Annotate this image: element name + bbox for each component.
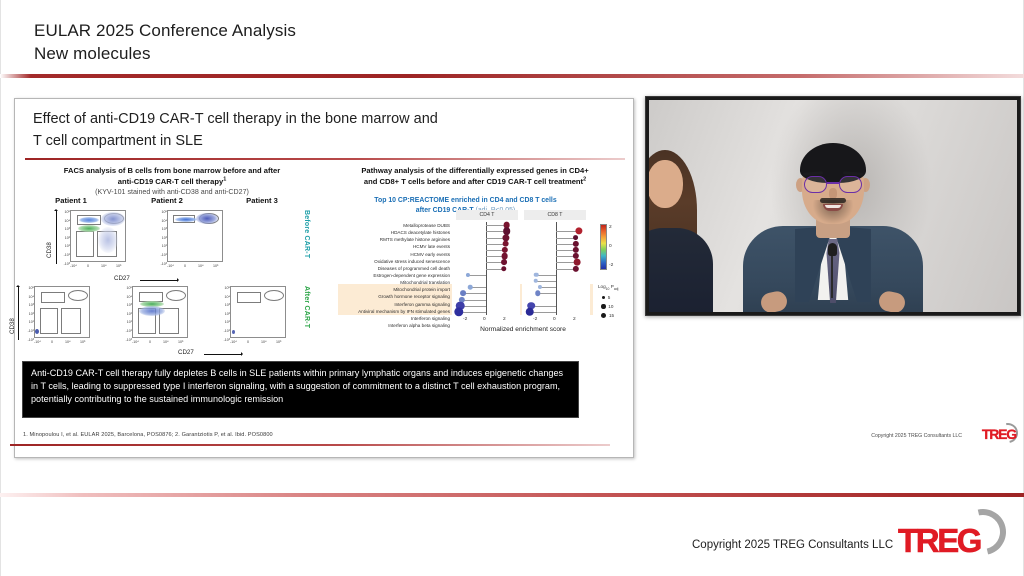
slide-treg-logo: TREG [966,423,1018,443]
dotplot-stem [462,300,486,301]
facs-plot-p1-after: 10⁵10⁴10³10²10¹-10¹-10³ -10⁴010⁴10⁵ [34,286,90,338]
dotplot-xtick-label: -2 [533,317,537,322]
size-legend-title-main: Log [598,284,606,289]
dotplot-point[interactable] [454,307,463,316]
facs-patient-label-1: Patient 1 [36,196,106,205]
slide-treg-wordmark: TREG [982,426,1016,442]
size-legend-title: Log10 Padj [598,284,618,291]
dotplot-point[interactable] [525,308,534,317]
facs-gate-naive-p2b [76,231,94,257]
facs-yticks-p2-after: 10⁵10⁴10³10²10¹-10¹-10³ [121,286,132,338]
dotplot-point[interactable] [533,279,538,284]
facs-yticks-p2-before: 10⁵10⁴10³10²10¹-10¹-10³ [59,210,70,262]
size-legend-title-tail-sub: adj [614,287,619,291]
dotplot-colorbar-tick-bot: -2 [609,263,613,268]
dotplot-xtick-label: -2 [463,317,467,322]
size-legend-label-15: 15 [609,313,614,318]
facs-xticks-p3-before: -10⁴010⁴10⁵ [168,264,224,272]
facs-xticks-p2-after: -10⁴010⁴10⁵ [133,340,189,348]
facs-y-arrow-row1 [56,210,57,264]
dotplot-category-label: Interferon signaling [338,315,450,322]
deck-header-line2: New molecules [34,43,296,66]
dotplot-category-label: Oxidative stress induced senescence [338,258,450,265]
facs-heading-line2-text: anti-CD19 CAR-T cell therapy [118,177,224,186]
footer-treg-logo: TREG [898,509,1010,559]
size-legend-dot-10 [601,304,605,308]
slide-footnote: 1. Minopoulou I, et al. EULAR 2025, Barc… [23,432,273,438]
facs-cells-p1a [35,329,39,334]
size-legend-label-5: 5 [608,295,611,300]
slide-bottom-accent-rule [10,444,610,446]
facs-plot-p3-after: 10⁵10⁴10³10²10¹-10¹-10³ -10⁴010⁴10⁵ [230,286,286,338]
dotplot-point[interactable] [534,272,539,277]
facs-gate-naive-p1a [40,308,58,334]
second-person-body [649,228,713,312]
facs-figure: Patient 1 Patient 2 Patient 3 Before CAR… [22,196,322,356]
dotplot-category-label: Interferon gamma signaling [338,301,450,308]
facs-xticks-p3-after: -10⁴010⁴10⁵ [231,340,287,348]
facs-gate-plasma-p3a [264,290,284,301]
dotplot-xtick-label: 2 [573,317,576,322]
facs-patient-label-2: Patient 2 [132,196,202,205]
dotplot-point[interactable] [468,285,473,290]
dotplot-category-label: Growth hormone receptor signaling [338,293,450,300]
pathway-heading-line2-text: and CD8+ T cells before and after CD19 C… [364,177,583,186]
speaker-moustache [820,198,846,203]
dotplot-colorbar-tick-mid: 0 [609,244,612,249]
facs-y-arrow-row2 [18,286,19,340]
dotplot-point[interactable] [501,266,506,271]
facs-gate-transitional-p3a [237,292,261,303]
footer-treg-wordmark: TREG [898,524,980,557]
dotplot-category-label: Mitochondrial protein import [338,286,450,293]
facs-heading-line2: anti-CD19 CAR-T cell therapy1 [31,176,313,187]
facs-cells-p2b-c [101,212,125,226]
facs-gate-plasma-p2a [166,290,186,301]
microphone-stem [831,250,833,298]
slide-title: Effect of anti-CD19 CAR-T cell therapy i… [33,109,621,153]
microphone-head-icon [828,243,837,256]
dotplot-category-label: Mitochondrial translation [338,279,450,286]
pathway-panel-heading: Pathway analysis of the differentially e… [325,165,625,187]
dotplot-point[interactable] [538,285,542,289]
dotplot-point[interactable] [501,259,507,265]
dotplot-panel-cd4 [452,222,520,315]
slide-title-line1: Effect of anti-CD19 CAR-T cell therapy i… [33,109,621,131]
facs-x-arrow-row1 [140,280,178,281]
dotplot-size-legend: Log10 Padj 5 10 15 [598,284,618,320]
dotplot-category-label: HCMV late events [338,243,450,250]
dotplot-colheader-cd4: CD4 T [456,210,518,220]
size-legend-dot-5 [602,296,605,299]
deck-header: EULAR 2025 Conference Analysis New molec… [34,20,296,66]
dotplot-category-label: Antiviral mechanism by IFN stimulated ge… [338,308,450,315]
glasses-lens-left [804,176,827,193]
facs-cells-p2b-a [79,217,99,223]
facs-row-label-after: After CAR-T [303,286,310,328]
footer-copyright: Copyright 2025 TREG Consultants LLC [692,539,893,551]
pathway-dotplot: Top 10 CP:REACTOME enriched in CD4 and C… [338,196,628,356]
dotplot-point[interactable] [573,265,579,271]
slide-accent-rule [25,158,625,160]
dotplot-point[interactable] [465,273,469,277]
dotplot-category-label: RMTS methylate histone arginines [338,236,450,243]
video-frame [649,100,1017,312]
glasses-bridge [827,182,839,184]
glasses-lens-right [839,176,862,193]
video-panel[interactable] [645,96,1021,316]
slide-title-line2: T cell compartment in SLE [33,131,621,153]
dotplot-stem [538,293,557,294]
dotplot-category-label: Diseases of programmed cell death [338,265,450,272]
facs-yticks-p3-after: 10⁵10⁴10³10²10¹-10¹-10³ [219,286,230,338]
facs-gate-plasma-p1a [68,290,88,301]
dotplot-xtick-label: 0 [483,317,486,322]
dotplot-xtick-label: 0 [553,317,556,322]
canvas-left-edge [0,0,1,576]
dotplot-colorbar-tick-top: 2 [609,225,612,230]
dotplot-stem [470,287,486,288]
facs-xticks-p2-before: -10⁴010⁴10⁵ [71,264,127,272]
facs-x-axis-label-row1: CD27 [114,275,130,282]
facs-cells-p2b-b [78,225,100,232]
screen: EULAR 2025 Conference Analysis New molec… [0,0,1024,576]
facs-y-axis-label-row2: CD38 [9,318,16,334]
size-legend-row-10: 10 [598,302,618,311]
dotplot-x-axis-label: Normalized enrichment score [448,326,598,333]
dotplot-stem [536,275,556,276]
dotplot-category-labels: Metalloprotease DUBSHDACS deacetylate hi… [338,222,450,329]
size-legend-dot-15 [601,313,607,319]
dotplot-xtick-label: 2 [503,317,506,322]
size-legend-row-5: 5 [598,293,618,302]
facs-cells-p3a [232,330,235,334]
facs-cells-p2a-b [139,306,165,316]
size-legend-row-15: 15 [598,311,618,320]
dotplot-category-label: HCMV early events [338,251,450,258]
footer-accent-rule [0,493,1024,497]
dotplot-colorbar [600,224,607,270]
dotplot-stem [463,293,486,294]
second-person-face [649,160,683,208]
pathway-heading-line2: and CD8+ T cells before and after CD19 C… [325,176,625,187]
dotplot-colheader-cd8: CD8 T [524,210,586,220]
size-legend-label-10: 10 [608,304,613,309]
facs-heading-line1: FACS analysis of B cells from bone marro… [31,165,313,176]
facs-xticks-p1-after: -10⁴010⁴10⁵ [35,340,91,348]
facs-x-axis-label-row2: CD27 [178,349,194,356]
facs-cells-p3b-b [196,213,218,224]
dotplot-category-label: Estrogen-dependent gene expression [338,272,450,279]
dotplot-title-line1: Top 10 CP:REACTOME enriched in CD4 and C… [338,196,593,206]
facs-x-arrow-row2 [204,354,242,355]
facs-yticks-p3-before: 10⁵10⁴10³10²10¹-10¹-10³ [156,210,167,262]
dotplot-category-label: Interferon alpha beta signaling [338,322,450,329]
dotplot-panel-cd8 [522,222,590,315]
dotplot-point[interactable] [460,290,466,296]
facs-patient-label-3: Patient 3 [227,196,297,205]
facs-plot-p3-before: 10⁵10⁴10³10²10¹-10¹-10³ -10⁴010⁴10⁵ [167,210,223,262]
dotplot-category-label: Metalloprotease DUBS [338,222,450,229]
facs-gate-memory-p1a [61,308,81,334]
facs-panel-heading: FACS analysis of B cells from bone marro… [31,165,313,197]
facs-y-axis-label-row1: CD38 [46,242,53,258]
facs-yticks-p1-after: 10⁵10⁴10³10²10¹-10¹-10³ [23,286,34,338]
dotplot-point[interactable] [535,291,540,296]
facs-heading-sup: 1 [223,176,226,182]
pathway-heading-sup: 2 [583,176,586,182]
facs-row-label-before: Before CAR-T [303,210,310,258]
slide-footnote-copyright: Copyright 2025 TREG Consultants LLC [871,433,962,439]
facs-gate-transitional-p1a [41,292,65,303]
facs-plot-p2-after: 10⁵10⁴10³10²10¹-10¹-10³ -10⁴010⁴10⁵ [132,286,188,338]
deck-header-line1: EULAR 2025 Conference Analysis [34,21,296,40]
facs-plot-p2-before: 10⁵10⁴10³10²10¹-10¹-10³ -10⁴010⁴10⁵ [70,210,126,262]
dotplot-stem [540,287,556,288]
facs-cells-p2b-d [98,227,118,253]
dotplot-stem [468,275,487,276]
header-accent-rule [0,74,1024,78]
dotplot-category-label: HDACS deacetylate histones [338,229,450,236]
facs-cells-p3b-a [175,217,197,222]
dotplot-stem [536,281,557,282]
pathway-heading-line1: Pathway analysis of the differentially e… [325,165,625,176]
size-legend-title-sub: 10 [606,287,610,291]
takeaway-box: Anti-CD19 CAR-T cell therapy fully deple… [22,361,579,418]
